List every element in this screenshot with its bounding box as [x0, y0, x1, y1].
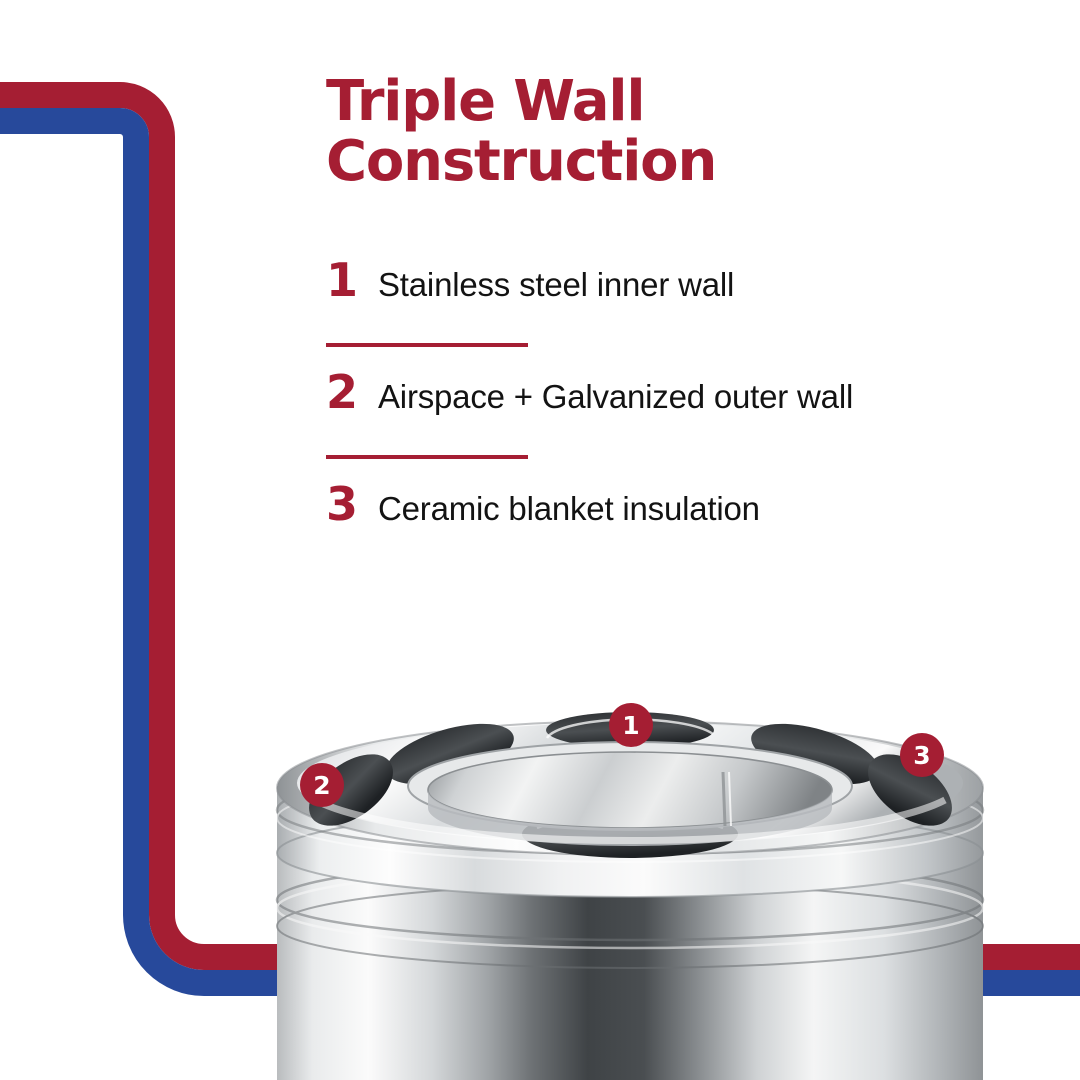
callout-badge-1-label: 1 — [622, 713, 639, 738]
callout-badge-3-label: 3 — [913, 743, 930, 768]
content-block: Triple Wall Construction 1 Stainless ste… — [326, 72, 1016, 483]
infographic-canvas: Triple Wall Construction 1 Stainless ste… — [0, 0, 1080, 1080]
feature-list: 1 Stainless steel inner wall 2 Airspace … — [326, 257, 1016, 547]
page-title: Triple Wall Construction — [326, 72, 1016, 193]
feature-item-2: 2 Airspace + Galvanized outer wall — [326, 369, 1016, 435]
feature-divider-2 — [326, 455, 528, 459]
callout-badge-3[interactable]: 3 — [900, 733, 944, 777]
callout-badge-2[interactable]: 2 — [300, 763, 344, 807]
feature-divider-1 — [326, 343, 528, 347]
feature-item-3: 3 Ceramic blanket insulation — [326, 481, 1016, 547]
callout-badge-2-label: 2 — [313, 773, 330, 798]
feature-item-1: 1 Stainless steel inner wall — [326, 257, 1016, 323]
feature-number-1: 1 — [326, 257, 360, 303]
feature-label-1: Stainless steel inner wall — [378, 267, 734, 303]
callout-badge-1[interactable]: 1 — [609, 703, 653, 747]
feature-number-3: 3 — [326, 481, 360, 527]
feature-label-3: Ceramic blanket insulation — [378, 491, 760, 527]
feature-number-2: 2 — [326, 369, 360, 415]
feature-label-2: Airspace + Galvanized outer wall — [378, 379, 853, 415]
